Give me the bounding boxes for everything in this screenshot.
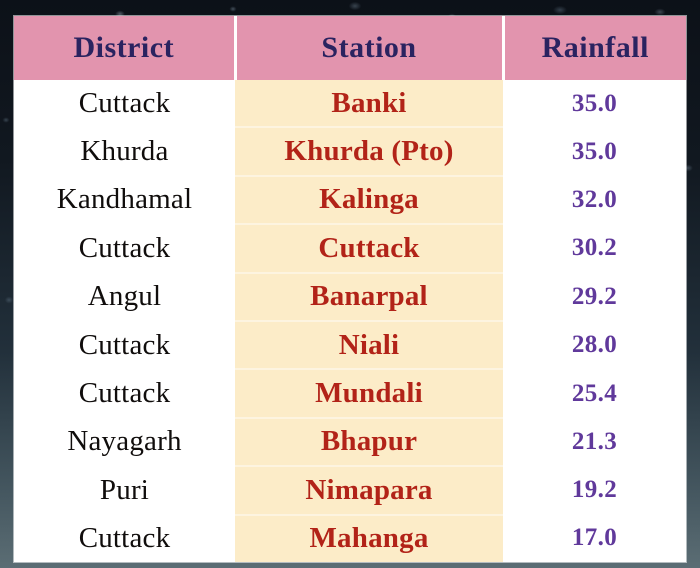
cell-district: Cuttack	[14, 80, 235, 127]
table-row[interactable]: CuttackMundali25.4	[14, 369, 686, 417]
table-row[interactable]: KandhamalKalinga32.0	[14, 176, 686, 224]
table-row[interactable]: KhurdaKhurda (Pto)35.0	[14, 127, 686, 175]
table-body: CuttackBanki35.0KhurdaKhurda (Pto)35.0Ka…	[14, 80, 686, 562]
cell-district: Cuttack	[14, 321, 235, 369]
cell-station: Bhapur	[235, 418, 503, 466]
cell-rainfall: 25.4	[503, 369, 686, 417]
page-backdrop: District Station Rainfall CuttackBanki35…	[0, 0, 700, 568]
cell-station: Mundali	[235, 369, 503, 417]
table-row[interactable]: CuttackNiali28.0	[14, 321, 686, 369]
cell-station: Banarpal	[235, 273, 503, 321]
cell-rainfall: 17.0	[503, 515, 686, 562]
cell-district: Cuttack	[14, 369, 235, 417]
cell-rainfall: 35.0	[503, 80, 686, 127]
cell-district: Cuttack	[14, 515, 235, 562]
cell-district: Cuttack	[14, 224, 235, 272]
cell-station: Cuttack	[235, 224, 503, 272]
district-station-rainfall-table: District Station Rainfall CuttackBanki35…	[14, 16, 686, 562]
cell-rainfall: 35.0	[503, 127, 686, 175]
cell-district: Angul	[14, 273, 235, 321]
column-header-rainfall[interactable]: Rainfall	[503, 16, 686, 80]
cell-station: Nimapara	[235, 466, 503, 514]
column-header-station[interactable]: Station	[235, 16, 503, 80]
cell-rainfall: 32.0	[503, 176, 686, 224]
table-row[interactable]: NayagarhBhapur21.3	[14, 418, 686, 466]
cell-station: Khurda (Pto)	[235, 127, 503, 175]
table-header: District Station Rainfall	[14, 16, 686, 80]
table-row[interactable]: CuttackBanki35.0	[14, 80, 686, 127]
table-row[interactable]: CuttackMahanga17.0	[14, 515, 686, 562]
cell-rainfall: 29.2	[503, 273, 686, 321]
cell-rainfall: 21.3	[503, 418, 686, 466]
cell-station: Mahanga	[235, 515, 503, 562]
cell-district: Puri	[14, 466, 235, 514]
cell-district: Kandhamal	[14, 176, 235, 224]
table-row[interactable]: PuriNimapara19.2	[14, 466, 686, 514]
cell-station: Banki	[235, 80, 503, 127]
cell-rainfall: 30.2	[503, 224, 686, 272]
table-header-row: District Station Rainfall	[14, 16, 686, 80]
table-row[interactable]: AngulBanarpal29.2	[14, 273, 686, 321]
table-row[interactable]: CuttackCuttack30.2	[14, 224, 686, 272]
cell-rainfall: 19.2	[503, 466, 686, 514]
cell-district: Nayagarh	[14, 418, 235, 466]
cell-station: Niali	[235, 321, 503, 369]
cell-rainfall: 28.0	[503, 321, 686, 369]
cell-district: Khurda	[14, 127, 235, 175]
cell-station: Kalinga	[235, 176, 503, 224]
column-header-district[interactable]: District	[14, 16, 235, 80]
